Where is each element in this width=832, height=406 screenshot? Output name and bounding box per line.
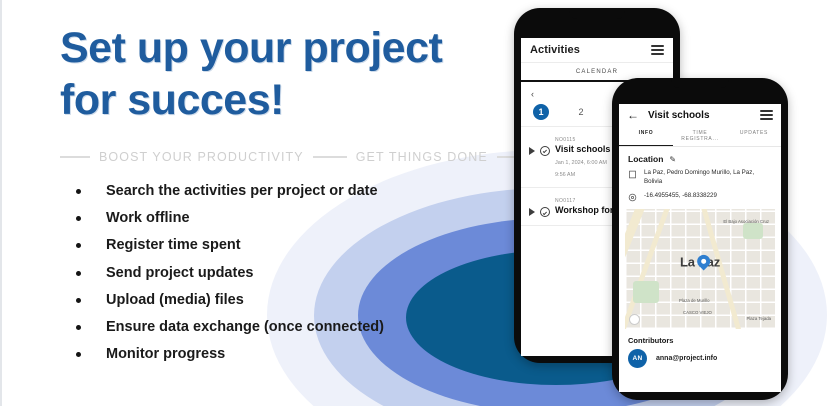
phone-mockup-visit-schools: ← Visit schools INFO TIME REGISTRA... UP… (612, 78, 788, 400)
location-section-header: Location ✎ (619, 147, 781, 167)
list-item: Ensure data exchange (once connected) (60, 319, 490, 336)
detail-tabs: INFO TIME REGISTRA... UPDATES (619, 126, 781, 147)
divider-rule-middle (313, 156, 347, 158)
phone-notch (671, 78, 729, 88)
contributors-title: Contributors (619, 329, 781, 349)
list-item: Monitor progress (60, 346, 490, 363)
hamburger-icon[interactable] (651, 45, 664, 54)
coordinates-row: -16.4955455, -68.8338229 (619, 190, 781, 205)
back-arrow-icon[interactable]: ← (627, 109, 639, 121)
play-icon[interactable] (529, 147, 535, 155)
list-item: Send project updates (60, 265, 490, 282)
tab-updates[interactable]: UPDATES (727, 126, 781, 146)
activity-actions (529, 137, 550, 156)
activity-time: 9:56 AM (555, 171, 610, 179)
activity-code: NO0115 (555, 137, 610, 143)
calendar-day[interactable]: 2 (573, 107, 589, 117)
detail-app-bar: ← Visit schools (619, 104, 781, 126)
map-label: Plaza de Murillo (679, 298, 710, 303)
pencil-icon[interactable]: ✎ (669, 155, 676, 164)
building-icon (628, 170, 637, 179)
hamburger-icon[interactable] (760, 110, 773, 119)
list-item: Work offline (60, 210, 490, 227)
map-label: El Bajo Asociación Cruz (723, 219, 769, 224)
info-button-icon[interactable] (629, 314, 640, 325)
check-circle-icon[interactable] (540, 146, 550, 156)
activity-name: Visit schools (555, 144, 610, 155)
activities-app-bar: Activities (521, 38, 673, 63)
location-title: Location (628, 154, 663, 164)
tab-info[interactable]: INFO (619, 126, 673, 146)
play-icon[interactable] (529, 208, 535, 216)
map-park (633, 281, 659, 303)
address-row: La Paz, Pedro Domingo Murillo, La Paz, B… (619, 167, 781, 190)
feature-list: Search the activities per project or dat… (60, 183, 490, 373)
map-label: CASCO VIEJO (683, 310, 712, 315)
tab-time-registration[interactable]: TIME REGISTRA... (673, 126, 727, 146)
visit-schools-screen: ← Visit schools INFO TIME REGISTRA... UP… (619, 104, 781, 392)
divider-rule-left (60, 156, 90, 158)
subtitle-left: BOOST YOUR PRODUCTIVITY (99, 150, 304, 164)
target-icon (628, 193, 637, 202)
contributor-email: anna@project.info (656, 355, 717, 362)
location-map[interactable]: El Bajo Asociación Cruz Plaza de Murillo… (625, 209, 775, 329)
address-text: La Paz, Pedro Domingo Murillo, La Paz, B… (644, 169, 772, 187)
subtitle-divider: BOOST YOUR PRODUCTIVITY GET THINGS DONE (60, 148, 500, 166)
chevron-left-icon[interactable]: ‹ (531, 89, 534, 99)
activities-title: Activities (530, 44, 580, 56)
map-label: Plaza Tejada (746, 316, 771, 321)
detail-title: Visit schools (648, 110, 751, 121)
list-item: Upload (media) files (60, 292, 490, 309)
headline-line-2: for succes! (60, 74, 490, 126)
coordinates-text: -16.4955455, -68.8338229 (644, 192, 717, 199)
activity-date: Jan 1, 2024, 6:00 AM (555, 159, 610, 167)
contributor-row[interactable]: AN anna@project.info (619, 349, 781, 376)
headline-line-1: Set up your project (60, 22, 490, 74)
avatar: AN (628, 349, 647, 368)
activity-actions (529, 198, 550, 217)
activity-text: NO0115 Visit schools Jan 1, 2024, 6:00 A… (555, 137, 610, 179)
subtitle-right: GET THINGS DONE (356, 150, 488, 164)
presentation-slide: Set up your project for succes! BOOST YO… (0, 0, 832, 406)
phone-notch (569, 8, 625, 19)
left-content: Set up your project for succes! BOOST YO… (2, 0, 502, 406)
check-circle-icon[interactable] (540, 207, 550, 217)
map-park (743, 223, 763, 239)
list-item: Search the activities per project or dat… (60, 183, 490, 200)
list-item: Register time spent (60, 237, 490, 254)
calendar-day-selected[interactable]: 1 (533, 104, 549, 120)
page-title: Set up your project for succes! (60, 22, 490, 127)
tab-calendar-label: CALENDAR (576, 69, 618, 75)
